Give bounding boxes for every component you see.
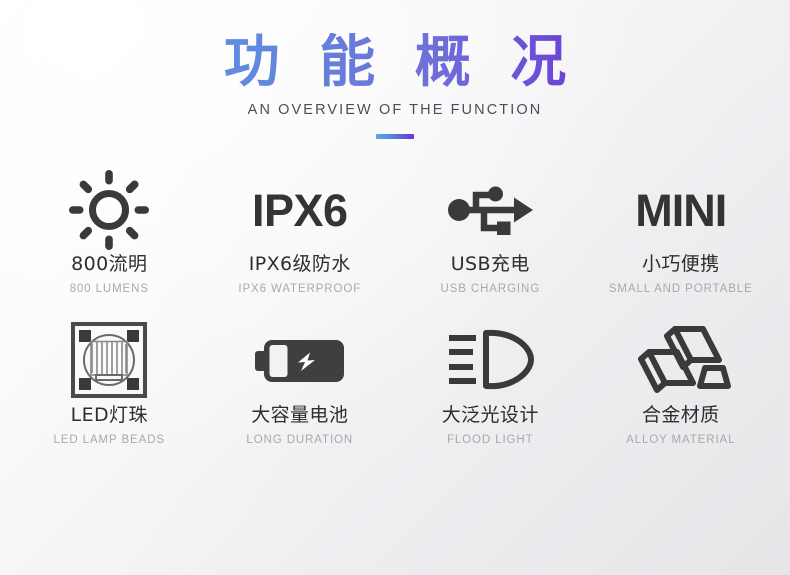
- feature-label-en: FLOOD LIGHT: [447, 435, 534, 447]
- feature-label-cn: 大容量电池: [251, 406, 348, 425]
- feature-label-cn: 800流明: [71, 255, 147, 274]
- page-header: 功 能 概 况 AN OVERVIEW OF THE FUNCTION: [0, 0, 790, 139]
- feature-item-flood-light: 大泛光设计 FLOOD LIGHT: [395, 314, 586, 464]
- battery-icon: [253, 314, 347, 406]
- mini-glyph: MINI: [635, 188, 726, 233]
- ipx6-glyph: IPX6: [252, 188, 348, 233]
- feature-item-battery: 大容量电池 LONG DURATION: [205, 314, 396, 464]
- divider-wrap: [0, 134, 790, 139]
- sun-icon: [67, 167, 151, 253]
- feature-label-en: USB CHARGING: [440, 284, 540, 296]
- feature-item-portable: MINI 小巧便携 SMALL AND PORTABLE: [586, 167, 777, 314]
- page-title: 功 能 概 况: [0, 33, 790, 92]
- feature-label-en: LED LAMP BEADS: [54, 435, 165, 447]
- feature-label-en: 800 LUMENS: [70, 284, 149, 296]
- feature-item-led-bead: LED灯珠 LED LAMP BEADS: [14, 314, 205, 464]
- feature-label-en: ALLOY MATERIAL: [626, 435, 735, 447]
- promo-feature-page: 功 能 概 况 AN OVERVIEW OF THE FUNCTION: [0, 0, 790, 575]
- usb-icon: [444, 167, 536, 253]
- feature-item-alloy: 合金材质 ALLOY MATERIAL: [586, 314, 777, 464]
- feature-item-usb-charging: USB充电 USB CHARGING: [395, 167, 586, 314]
- page-subtitle: AN OVERVIEW OF THE FUNCTION: [0, 102, 790, 118]
- mini-text-icon: MINI: [635, 167, 726, 253]
- feature-label-cn: 小巧便携: [642, 255, 720, 274]
- feature-label-cn: 合金材质: [642, 406, 720, 425]
- led-bead-icon: [70, 314, 148, 406]
- alloy-ingot-icon: [631, 314, 731, 406]
- feature-label-cn: IPX6级防水: [249, 255, 351, 274]
- feature-label-en: SMALL AND PORTABLE: [609, 284, 753, 296]
- feature-label-en: IPX6 WATERPROOF: [238, 284, 361, 296]
- feature-grid: 800流明 800 LUMENS IPX6 IPX6级防水 IPX6 WATER…: [0, 167, 790, 464]
- feature-label-en: LONG DURATION: [246, 435, 353, 447]
- feature-item-waterproof: IPX6 IPX6级防水 IPX6 WATERPROOF: [205, 167, 396, 314]
- feature-label-cn: LED灯珠: [71, 406, 148, 425]
- feature-item-lumens: 800流明 800 LUMENS: [14, 167, 205, 314]
- title-divider: [376, 134, 414, 139]
- flood-light-icon: [443, 314, 537, 406]
- feature-label-cn: USB充电: [451, 255, 530, 274]
- ipx6-text-icon: IPX6: [252, 167, 348, 253]
- feature-label-cn: 大泛光设计: [442, 406, 539, 425]
